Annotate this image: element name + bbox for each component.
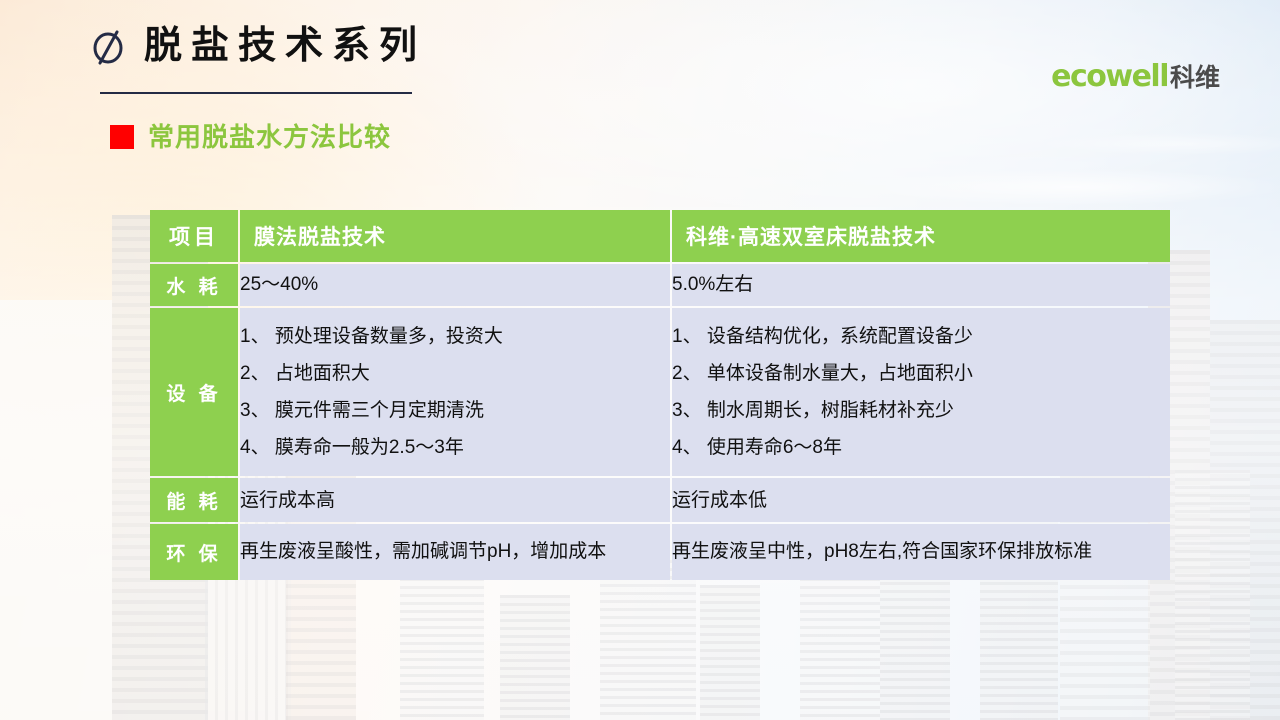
page-title: 脱盐技术系列 (144, 27, 426, 65)
list-item: 3、 制水周期长，树脂耗材补充少 (672, 392, 1170, 429)
list-item: 2、 占地面积大 (240, 355, 670, 392)
table-row-equipment: 设 备 1、 预处理设备数量多，投资大 2、 占地面积大 3、 膜元件需三个月定… (150, 308, 1170, 476)
title-divider (100, 92, 412, 94)
table-header-row: 项目 膜法脱盐技术 科维·高速双室床脱盐技术 (150, 210, 1170, 262)
list-item: 1、 预处理设备数量多，投资大 (240, 318, 670, 355)
column-header-membrane: 膜法脱盐技术 (240, 210, 670, 262)
table-row-environment: 环 保 再生废液呈酸性，需加碱调节pH，增加成本 再生废液呈中性，pH8左右,符… (150, 524, 1170, 580)
logo-wordmark: ecowell (1051, 62, 1168, 92)
row-label-environment: 环 保 (150, 524, 238, 580)
cell-environment-ecowell: 再生废液呈中性，pH8左右,符合国家环保排放标准 (672, 524, 1170, 580)
brand-logo: ecowell 科维 (1051, 62, 1220, 92)
red-square-bullet-icon (110, 125, 134, 149)
logo-chinese-name: 科维 (1170, 66, 1220, 91)
row-label-equipment: 设 备 (150, 308, 238, 476)
list-item: 3、 膜元件需三个月定期清洗 (240, 392, 670, 429)
cell-equipment-ecowell: 1、 设备结构优化，系统配置设备少 2、 单体设备制水量大，占地面积小 3、 制… (672, 308, 1170, 476)
equipment-ecowell-list: 1、 设备结构优化，系统配置设备少 2、 单体设备制水量大，占地面积小 3、 制… (672, 318, 1170, 466)
row-label-energy: 能 耗 (150, 478, 238, 522)
row-label-water: 水 耗 (150, 264, 238, 306)
table-row-water: 水 耗 25～40% 5.0%左右 (150, 264, 1170, 306)
cell-energy-membrane: 运行成本高 (240, 478, 670, 522)
cell-energy-ecowell: 运行成本低 (672, 478, 1170, 522)
list-item: 4、 膜寿命一般为2.5～3年 (240, 429, 670, 466)
list-item: 1、 设备结构优化，系统配置设备少 (672, 318, 1170, 355)
column-header-ecowell: 科维·高速双室床脱盐技术 (672, 210, 1170, 262)
cell-environment-membrane: 再生废液呈酸性，需加碱调节pH，增加成本 (240, 524, 670, 580)
comparison-table: 项目 膜法脱盐技术 科维·高速双室床脱盐技术 水 耗 25～40% 5.0%左右… (148, 208, 1172, 582)
table-row-energy: 能 耗 运行成本高 运行成本低 (150, 478, 1170, 522)
equipment-membrane-list: 1、 预处理设备数量多，投资大 2、 占地面积大 3、 膜元件需三个月定期清洗 … (240, 318, 670, 466)
subtitle-label: 常用脱盐水方法比较 (148, 124, 391, 150)
diameter-slash-icon (92, 26, 126, 66)
cell-water-ecowell: 5.0%左右 (672, 264, 1170, 306)
section-subtitle: 常用脱盐水方法比较 (110, 124, 391, 150)
cell-equipment-membrane: 1、 预处理设备数量多，投资大 2、 占地面积大 3、 膜元件需三个月定期清洗 … (240, 308, 670, 476)
slide: 脱盐技术系列 ecowell 科维 常用脱盐水方法比较 项目 膜法脱盐技术 科维… (0, 0, 1280, 720)
column-header-item: 项目 (150, 210, 238, 262)
list-item: 4、 使用寿命6～8年 (672, 429, 1170, 466)
cell-water-membrane: 25～40% (240, 264, 670, 306)
list-item: 2、 单体设备制水量大，占地面积小 (672, 355, 1170, 392)
slide-header: 脱盐技术系列 (92, 26, 426, 66)
